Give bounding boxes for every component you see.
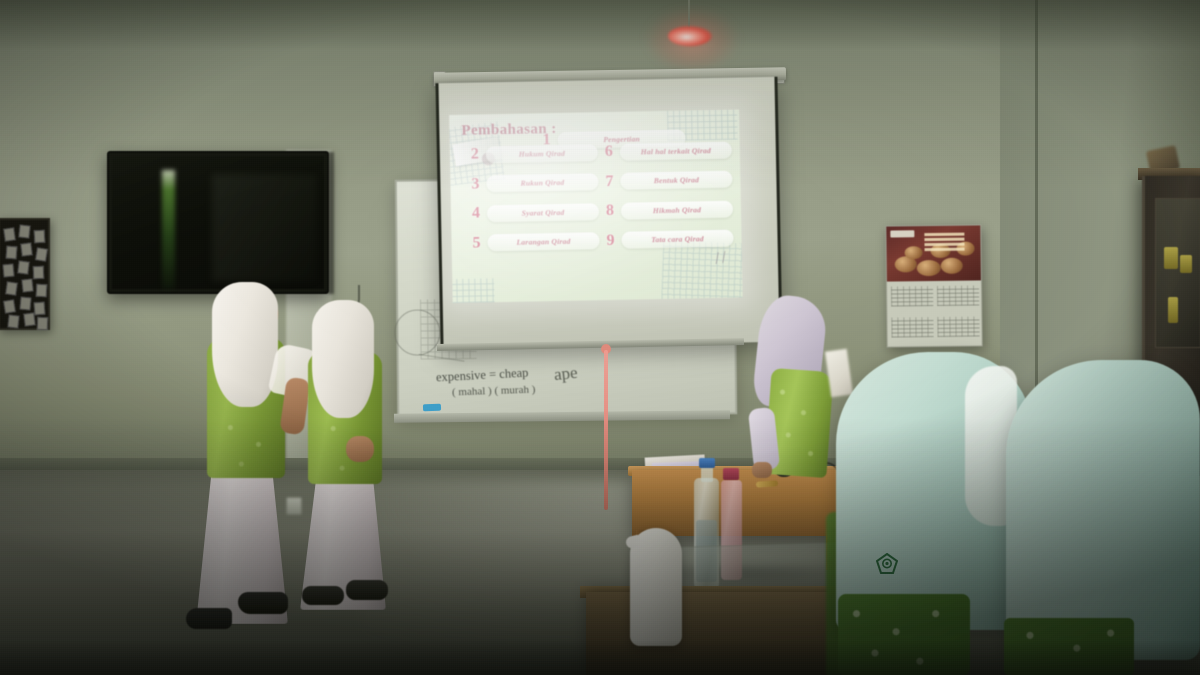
slide-item-label: Hikmah Qirad xyxy=(653,205,701,215)
slide-item: 6 Hal hal terkait Qirad xyxy=(598,137,732,166)
whiteboard-marker[interactable] xyxy=(423,404,441,412)
slide-item: 7 Bentuk Qirad xyxy=(598,166,732,195)
slide-item-label: Syarat Qirad xyxy=(522,207,565,217)
presenter-two-hijab xyxy=(312,300,374,418)
student-front-right xyxy=(1006,360,1200,660)
presenter-one-hijab xyxy=(212,282,278,407)
projection-screen[interactable]: Pembahasan : 1 Pengertian 2 Hukum Qirad … xyxy=(435,77,782,349)
presenter-two-shoe-right xyxy=(346,580,388,600)
photo-bulletin-board xyxy=(0,218,50,330)
calendar-brand-badge xyxy=(890,230,914,237)
wall-dark-strip xyxy=(328,152,334,294)
whiteboard-note-line-3: ape xyxy=(553,363,579,385)
slide-item-label: Tata cara Qirad xyxy=(651,234,704,244)
calendar-headline-text xyxy=(924,231,964,251)
slide-item: 4 Syarat Qirad xyxy=(465,198,599,227)
calendar-month xyxy=(891,285,933,315)
slide-item: 5 Larangan Qirad xyxy=(465,228,599,257)
presenter-three-hand xyxy=(752,462,772,478)
wall-mounted-tv[interactable] xyxy=(107,151,329,294)
calendar-photo xyxy=(886,225,982,281)
slide-item-label: Bentuk Qirad xyxy=(654,175,699,185)
school-emblem-badge xyxy=(876,553,898,574)
water-bottle-clear-cap[interactable] xyxy=(699,458,715,468)
calendar-month xyxy=(937,284,979,314)
screen-pull-cord[interactable] xyxy=(604,350,608,510)
power-outlet[interactable] xyxy=(286,497,302,515)
calendar-month-grid xyxy=(887,282,983,347)
presenter-two-shoe-left xyxy=(302,586,344,605)
slide-item-pill: Hukum Qirad xyxy=(486,144,598,163)
slide-item-label: Larangan Qirad xyxy=(516,237,570,247)
slide-column-left: 2 Hukum Qirad 3 Rukun Qirad 4 Syarat Qir… xyxy=(464,139,600,260)
slide-item-label: Hal hal terkait Qirad xyxy=(641,146,711,156)
tv-green-light-reflection xyxy=(162,170,175,290)
slide-item-number: 9 xyxy=(599,231,621,249)
presenter-two-hand xyxy=(346,436,374,462)
slide-item-pill: Tata cara Qirad xyxy=(621,230,733,249)
tv-screen xyxy=(112,156,324,289)
slide-item: 3 Rukun Qirad xyxy=(464,169,598,198)
slide-item-number: 2 xyxy=(464,145,486,163)
slide-item: 2 Hukum Qirad xyxy=(464,139,598,168)
slide-item-label: Rukun Qirad xyxy=(520,178,564,188)
school-emblem-icon xyxy=(876,553,898,574)
slide-pencil-mark-decoration: // xyxy=(713,247,729,269)
slide-item: 8 Hikmah Qirad xyxy=(599,196,733,225)
water-bottle-pink-cap[interactable] xyxy=(723,468,739,480)
calendar-month-days xyxy=(937,316,979,337)
whiteboard-faint-circle xyxy=(394,309,440,355)
presenter-one-shoe-left xyxy=(186,608,232,629)
slide-item-pill: Syarat Qirad xyxy=(487,203,599,222)
wall-corner-seam xyxy=(1035,0,1038,420)
slide-item-number: 4 xyxy=(465,204,487,222)
ceiling-pendant-light-icon xyxy=(668,26,712,46)
slide-item-pill: Larangan Qirad xyxy=(487,232,599,251)
slide-item-label: Hukum Qirad xyxy=(519,148,565,158)
slide-item-number: 7 xyxy=(598,172,620,190)
cabinet-glass-door[interactable] xyxy=(1155,198,1200,348)
slide-item-pill: Hikmah Qirad xyxy=(621,200,733,219)
slide-column-right: 6 Hal hal terkait Qirad 7 Bentuk Qirad 8… xyxy=(598,137,734,258)
foreground-shadow xyxy=(0,640,1200,675)
wall-calendar-poster xyxy=(885,224,982,347)
calendar-month-days xyxy=(937,285,979,306)
calendar-month xyxy=(937,315,979,345)
slide-item-pill: Hal hal terkait Qirad xyxy=(620,141,732,160)
calendar-month xyxy=(891,316,933,346)
slide-item-pill: Rukun Qirad xyxy=(486,173,598,192)
calendar-month-days xyxy=(891,286,933,307)
calendar-month-days xyxy=(891,317,933,338)
slide-item-number: 3 xyxy=(464,175,486,193)
classroom-scene: expensive = cheap ( mahal ) ( murah ) ap… xyxy=(0,0,1200,675)
presenter-one-shoe-right xyxy=(238,592,288,614)
slide-item-number: 8 xyxy=(599,202,621,220)
tv-reflection xyxy=(212,174,317,282)
slide-item-pill: Bentuk Qirad xyxy=(620,171,732,190)
slide-grid-decoration-bottom-left xyxy=(450,278,495,303)
presentation-slide: Pembahasan : 1 Pengertian 2 Hukum Qirad … xyxy=(449,109,743,303)
ceiling-shadow xyxy=(0,0,1200,50)
slide-item-number: 6 xyxy=(598,143,620,161)
slide-item-number: 5 xyxy=(465,234,487,252)
